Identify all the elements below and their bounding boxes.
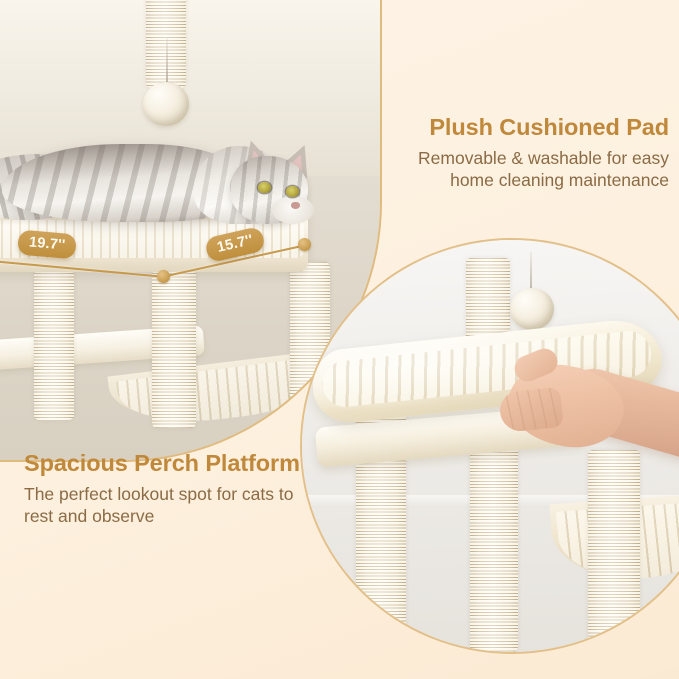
feature-title-plush-cushioned-pad: Plush Cushioned Pad (389, 114, 669, 142)
human-fingers (498, 387, 564, 433)
cat-eye-right (286, 186, 299, 197)
toy-string (166, 38, 168, 86)
feature-title-spacious-perch-platform: Spacious Perch Platform (24, 450, 310, 478)
feature-description-plush-cushioned-pad: Removable & washable for easy home clean… (389, 147, 669, 193)
cat-nose (291, 202, 300, 209)
product-feature-poster: 19.7'' 15.7'' Plush Cushioned Pad Remova… (0, 0, 679, 679)
feature-description-spacious-perch-platform: The perfect lookout spot for cats to res… (24, 483, 310, 529)
feature-block-spacious-perch-platform: Spacious Perch Platform The perfect look… (24, 450, 310, 528)
hand-lifting-cushion-photo (300, 238, 679, 654)
sisal-post-right (588, 450, 640, 652)
cat-illustration (0, 120, 314, 230)
cat-muzzle (272, 196, 314, 224)
sisal-post-left (34, 270, 74, 420)
sisal-post-center (470, 436, 518, 652)
pompom-toy-icon (510, 288, 554, 330)
cat-eye-left (258, 182, 271, 193)
feature-block-plush-cushioned-pad: Plush Cushioned Pad Removable & washable… (389, 114, 669, 192)
sisal-post-center (152, 270, 196, 428)
